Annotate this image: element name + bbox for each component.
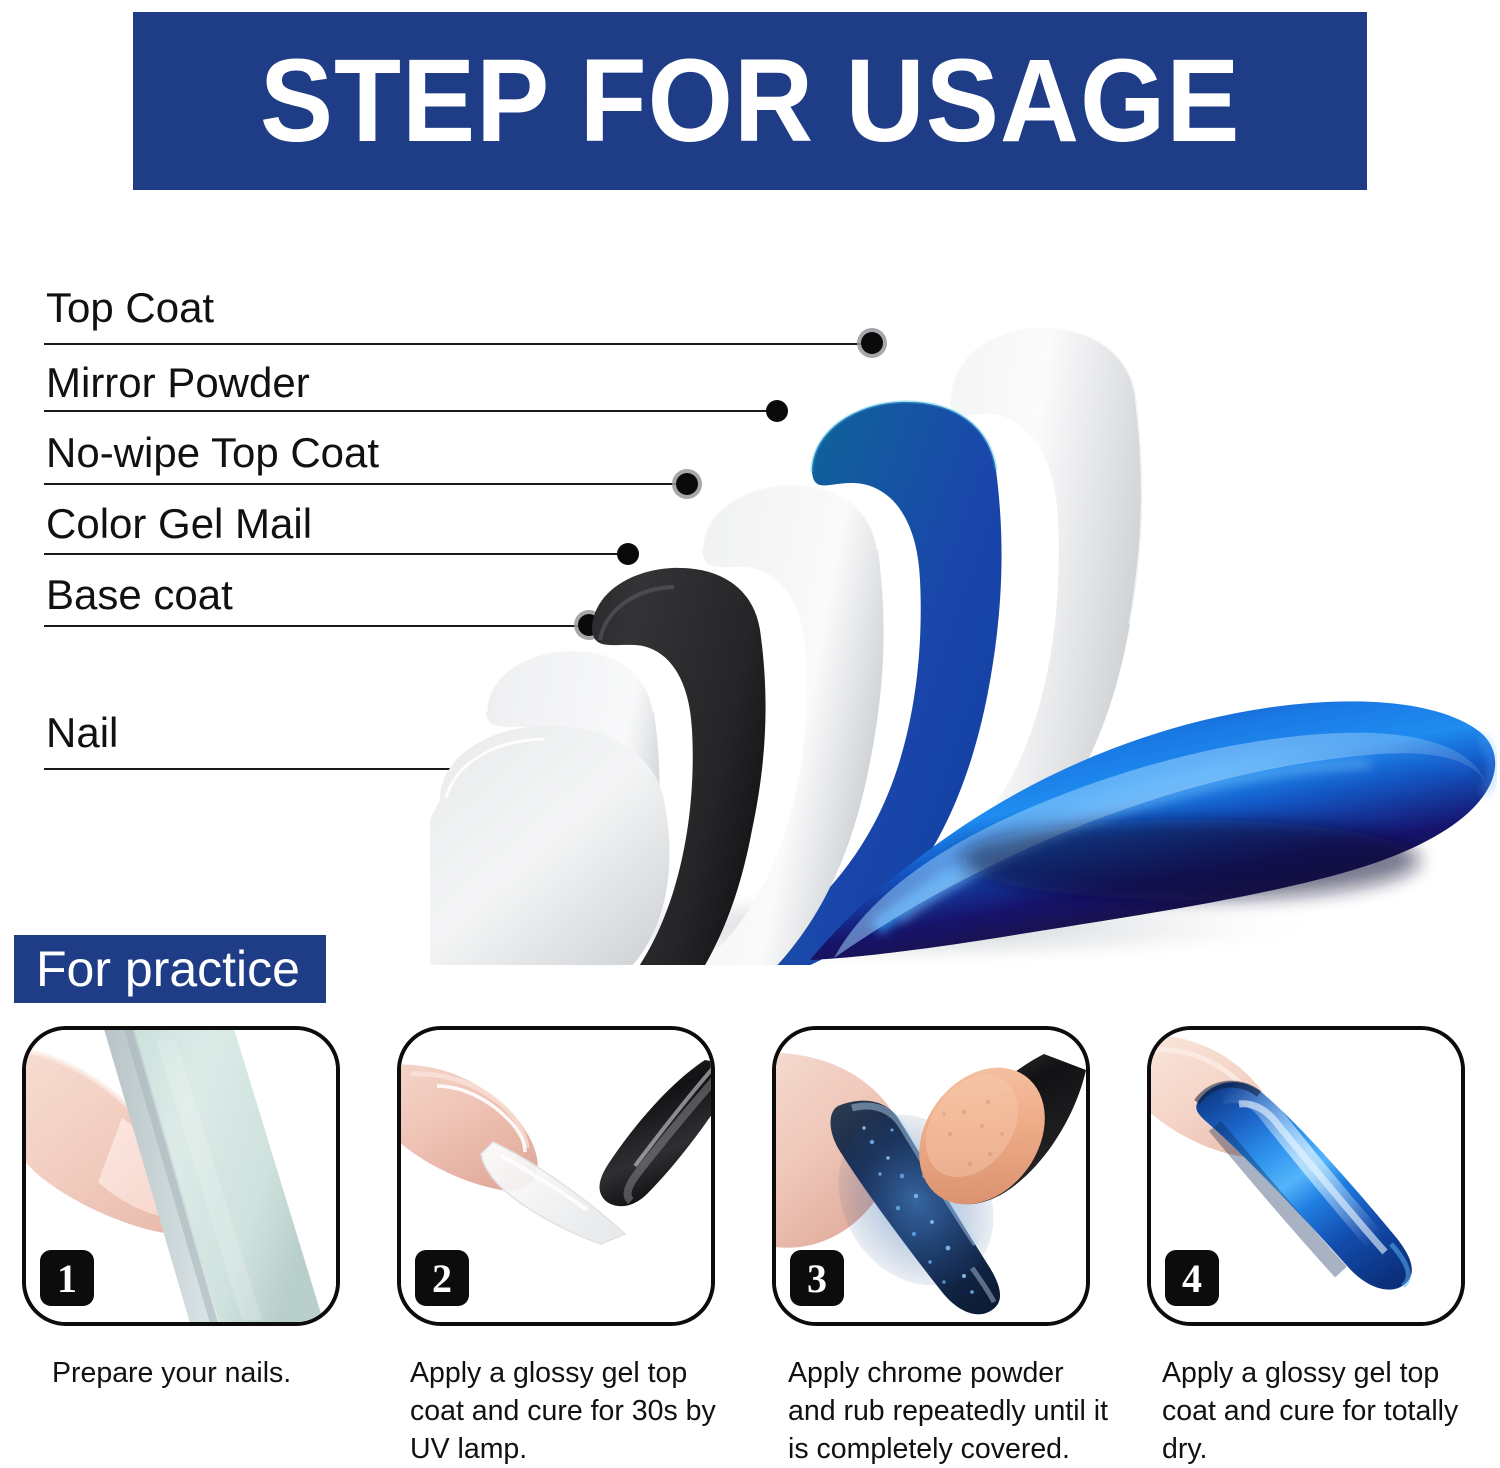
layer-label-no-wipe-top-coat: No-wipe Top Coat (46, 432, 379, 474)
layer-label-mirror-powder: Mirror Powder (46, 362, 310, 404)
for-practice-title: For practice (36, 944, 300, 994)
layered-nail-diagram (430, 300, 1500, 965)
for-practice-banner: For practice (14, 935, 326, 1003)
step-caption-2: Apply a glossy gel top coat and cure for… (410, 1355, 740, 1468)
layer-label-top-coat: Top Coat (46, 287, 214, 329)
step-caption-4: Apply a glossy gel top coat and cure for… (1162, 1355, 1492, 1468)
layer-label-base-coat: Base coat (46, 574, 233, 616)
step-caption-3: Apply chrome powder and rub repeatedly u… (788, 1355, 1118, 1468)
layer-nail (430, 726, 670, 965)
step-badge-1: 1 (40, 1250, 94, 1306)
layer-label-nail: Nail (46, 712, 118, 754)
header-banner: STEP FOR USAGE (133, 12, 1367, 190)
layer-label-color-gel-mail: Color Gel Mail (46, 503, 312, 545)
practice-tile-3[interactable]: 3 (772, 1026, 1090, 1326)
step-badge-4: 4 (1165, 1250, 1219, 1306)
practice-tile-1[interactable]: 1 (22, 1026, 340, 1326)
practice-tile-4[interactable]: 4 (1147, 1026, 1465, 1326)
practice-tile-2[interactable]: 2 (397, 1026, 715, 1326)
infographic-page: STEP FOR USAGE Top Coat Mirror Powder No… (0, 0, 1500, 1468)
step-badge-2: 2 (415, 1250, 469, 1306)
page-title: STEP FOR USAGE (260, 42, 1241, 160)
step-caption-1: Prepare your nails. (52, 1355, 382, 1393)
step-badge-3: 3 (790, 1250, 844, 1306)
